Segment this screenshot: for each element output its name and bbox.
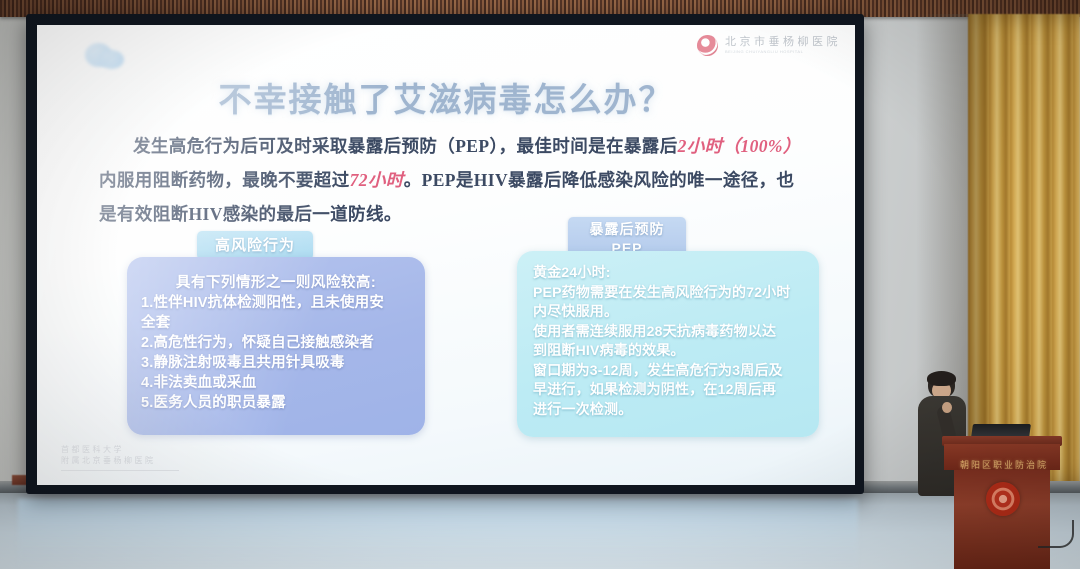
list-item: 1.性伴HIV抗体检测阳性，且未使用安 — [141, 293, 411, 313]
pep-line: 到阻断HIV病毒的效果。 — [533, 341, 805, 361]
slide-body-paragraph: 发生高危行为后可及时采取暴露后预防（PEP），最佳时间是在暴露后2小时（100%… — [99, 129, 811, 231]
projection-screen-frame: 北京市垂杨柳医院 BEIJING CHUIYANGLIU HOSPITAL 不幸… — [26, 14, 864, 494]
slide-watermark: 首都医科大学 附属北京垂杨柳医院 — [61, 444, 179, 471]
hospital-name-en: BEIJING CHUIYANGLIU HOSPITAL — [725, 50, 841, 54]
pep-line: 窗口期为3-12周，发生高危行为3周后及 — [533, 361, 805, 381]
pep-detail-box: 黄金24小时: PEP药物需要在发生高风险行为的72小时 内尽快服用。 使用者需… — [517, 251, 819, 437]
pep-line: 早进行，如果检测为阴性，在12周后再 — [533, 380, 805, 400]
lecture-hall-scene: 北京市垂杨柳医院 BEIJING CHUIYANGLIU HOSPITAL 不幸… — [0, 0, 1080, 569]
list-item: 3.静脉注射吸毒且共用针具吸毒 — [141, 353, 411, 373]
hospital-name-cn: 北京市垂杨柳医院 — [725, 37, 841, 48]
hospital-logo-names: 北京市垂杨柳医院 BEIJING CHUIYANGLIU HOSPITAL — [725, 37, 841, 55]
list-item: 5.医务人员的职员暴露 — [141, 393, 411, 413]
tag-pep-line1: 暴露后预防 — [568, 220, 686, 239]
list-item: 4.非法卖血或采血 — [141, 373, 411, 393]
presenter-hand — [942, 402, 952, 413]
floor-cable — [1038, 520, 1074, 548]
pep-line: PEP药物需要在发生高风险行为的72小时 — [533, 283, 805, 303]
body-segment-2: 内服用阻断药物，最晚不要超过 — [99, 170, 350, 190]
school-seal-icon — [697, 35, 718, 56]
high-risk-list-box: 具有下列情形之一则风险较高: 1.性伴HIV抗体检测阳性，且未使用安 全套 2.… — [127, 257, 425, 435]
body-segment-1: 发生高危行为后可及时采取暴露后预防（PEP），最佳时间是在暴露后 — [133, 136, 678, 156]
highlight-2-hours: 2小时 — [678, 136, 723, 156]
slide-title: 不幸接触了艾滋病毒怎么办？ — [37, 73, 855, 121]
watermark-line-2: 附属北京垂杨柳医院 — [61, 455, 179, 466]
presenter-hair — [927, 371, 956, 386]
pep-line: 使用者需连续服用28天抗病毒药物以达 — [533, 322, 805, 342]
tag-high-risk-behavior: 高风险行为 — [197, 231, 313, 260]
pep-line: 内尽快服用。 — [533, 302, 805, 322]
podium-header-panel: 朝阳区职业防治院 — [944, 444, 1060, 470]
podium-seal-icon — [986, 482, 1020, 516]
highlight-100-percent: （100%） — [723, 136, 801, 156]
list-item: 全套 — [141, 313, 411, 333]
watermark-line-1: 首都医科大学 — [61, 444, 179, 455]
highlight-72-hours: 72小时 — [350, 170, 404, 190]
hospital-logo: 北京市垂杨柳医院 BEIJING CHUIYANGLIU HOSPITAL — [697, 35, 841, 56]
pep-line: 进行一次检测。 — [533, 400, 805, 420]
presentation-slide: 北京市垂杨柳医院 BEIJING CHUIYANGLIU HOSPITAL 不幸… — [37, 25, 855, 485]
high-risk-list-heading: 具有下列情形之一则风险较高: — [141, 271, 411, 292]
cloud-decoration-icon — [83, 41, 127, 71]
watermark-rule — [61, 470, 179, 471]
pep-line: 黄金24小时: — [533, 263, 805, 283]
floor-reflection — [18, 499, 858, 569]
gold-curtain-panel — [968, 14, 1080, 484]
speaking-podium: 朝阳区职业防治院 — [942, 436, 1062, 569]
list-item: 2.高危性行为，怀疑自己接触感染者 — [141, 333, 411, 353]
